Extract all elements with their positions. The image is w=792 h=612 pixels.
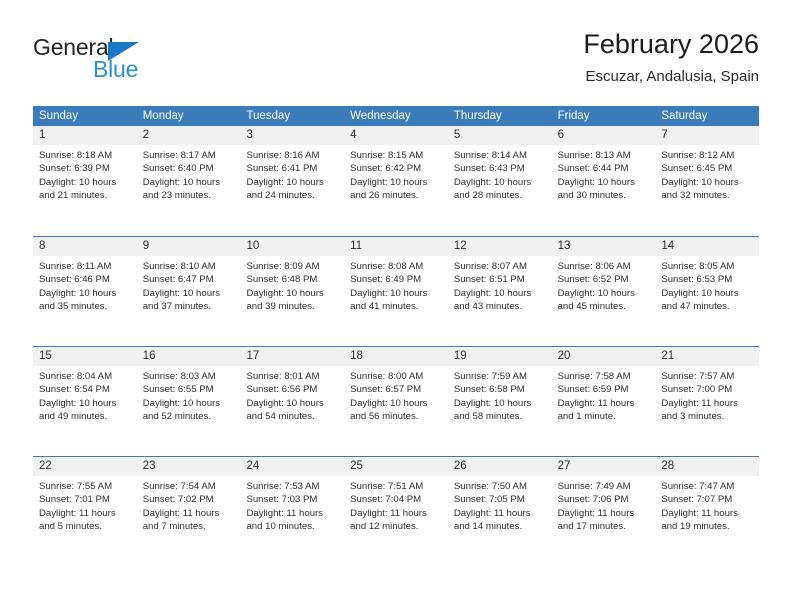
daylight-text-line1: Daylight: 10 hours xyxy=(143,397,235,410)
daylight-text-line2: and 32 minutes. xyxy=(661,189,753,202)
daylight-text-line1: Daylight: 10 hours xyxy=(558,176,650,189)
day-cell[interactable]: 1 Sunrise: 8:18 AM Sunset: 6:39 PM Dayli… xyxy=(33,126,137,236)
daylight-text-line1: Daylight: 10 hours xyxy=(350,397,442,410)
day-cell[interactable]: 9 Sunrise: 8:10 AM Sunset: 6:47 PM Dayli… xyxy=(137,237,241,346)
day-number: 17 xyxy=(240,347,344,366)
day-number: 14 xyxy=(655,237,759,256)
day-info: Sunrise: 7:47 AM Sunset: 7:07 PM Dayligh… xyxy=(655,476,759,534)
day-info: Sunrise: 7:51 AM Sunset: 7:04 PM Dayligh… xyxy=(344,476,448,534)
day-number: 8 xyxy=(33,237,137,256)
weekday-header-saturday: Saturday xyxy=(655,106,759,126)
sunset-text: Sunset: 6:57 PM xyxy=(350,383,442,396)
day-cell[interactable]: 3 Sunrise: 8:16 AM Sunset: 6:41 PM Dayli… xyxy=(240,126,344,236)
daylight-text-line1: Daylight: 11 hours xyxy=(661,397,753,410)
sunset-text: Sunset: 6:55 PM xyxy=(143,383,235,396)
daylight-text-line1: Daylight: 10 hours xyxy=(39,176,131,189)
day-info: Sunrise: 8:07 AM Sunset: 6:51 PM Dayligh… xyxy=(448,256,552,314)
brand-name-blue: Blue xyxy=(93,56,138,82)
sunrise-text: Sunrise: 8:10 AM xyxy=(143,260,235,273)
sunset-text: Sunset: 6:46 PM xyxy=(39,273,131,286)
sunset-text: Sunset: 7:04 PM xyxy=(350,493,442,506)
day-number: 23 xyxy=(137,457,241,476)
daylight-text-line2: and 35 minutes. xyxy=(39,300,131,313)
sunrise-text: Sunrise: 8:11 AM xyxy=(39,260,131,273)
daylight-text-line2: and 52 minutes. xyxy=(143,410,235,423)
day-cell[interactable]: 10 Sunrise: 8:09 AM Sunset: 6:48 PM Dayl… xyxy=(240,237,344,346)
day-info: Sunrise: 8:09 AM Sunset: 6:48 PM Dayligh… xyxy=(240,256,344,314)
daylight-text-line1: Daylight: 11 hours xyxy=(39,507,131,520)
day-number: 5 xyxy=(448,126,552,145)
day-cell[interactable]: 13 Sunrise: 8:06 AM Sunset: 6:52 PM Dayl… xyxy=(552,237,656,346)
daylight-text-line2: and 24 minutes. xyxy=(246,189,338,202)
sunrise-text: Sunrise: 8:00 AM xyxy=(350,370,442,383)
day-info: Sunrise: 7:54 AM Sunset: 7:02 PM Dayligh… xyxy=(137,476,241,534)
sunset-text: Sunset: 6:42 PM xyxy=(350,162,442,175)
daylight-text-line1: Daylight: 10 hours xyxy=(246,397,338,410)
day-info: Sunrise: 8:08 AM Sunset: 6:49 PM Dayligh… xyxy=(344,256,448,314)
sunrise-text: Sunrise: 8:01 AM xyxy=(246,370,338,383)
daylight-text-line2: and 54 minutes. xyxy=(246,410,338,423)
day-cell[interactable]: 11 Sunrise: 8:08 AM Sunset: 6:49 PM Dayl… xyxy=(344,237,448,346)
daylight-text-line1: Daylight: 10 hours xyxy=(454,287,546,300)
sunset-text: Sunset: 6:53 PM xyxy=(661,273,753,286)
day-cell[interactable]: 22 Sunrise: 7:55 AM Sunset: 7:01 PM Dayl… xyxy=(33,457,137,566)
day-cell[interactable]: 7 Sunrise: 8:12 AM Sunset: 6:45 PM Dayli… xyxy=(655,126,759,236)
day-number: 25 xyxy=(344,457,448,476)
daylight-text-line2: and 12 minutes. xyxy=(350,520,442,533)
day-number: 16 xyxy=(137,347,241,366)
daylight-text-line1: Daylight: 11 hours xyxy=(246,507,338,520)
weekday-header-row: Sunday Monday Tuesday Wednesday Thursday… xyxy=(33,106,759,126)
day-cell[interactable]: 24 Sunrise: 7:53 AM Sunset: 7:03 PM Dayl… xyxy=(240,457,344,566)
sunrise-text: Sunrise: 8:17 AM xyxy=(143,149,235,162)
daylight-text-line2: and 7 minutes. xyxy=(143,520,235,533)
sunrise-text: Sunrise: 8:13 AM xyxy=(558,149,650,162)
sunset-text: Sunset: 6:54 PM xyxy=(39,383,131,396)
day-info: Sunrise: 8:03 AM Sunset: 6:55 PM Dayligh… xyxy=(137,366,241,424)
daylight-text-line1: Daylight: 10 hours xyxy=(350,176,442,189)
day-cell[interactable]: 23 Sunrise: 7:54 AM Sunset: 7:02 PM Dayl… xyxy=(137,457,241,566)
week-row: 22 Sunrise: 7:55 AM Sunset: 7:01 PM Dayl… xyxy=(33,456,759,566)
daylight-text-line1: Daylight: 11 hours xyxy=(454,507,546,520)
daylight-text-line2: and 49 minutes. xyxy=(39,410,131,423)
daylight-text-line1: Daylight: 10 hours xyxy=(39,397,131,410)
day-cell[interactable]: 12 Sunrise: 8:07 AM Sunset: 6:51 PM Dayl… xyxy=(448,237,552,346)
day-info: Sunrise: 8:13 AM Sunset: 6:44 PM Dayligh… xyxy=(552,145,656,203)
day-cell[interactable]: 20 Sunrise: 7:58 AM Sunset: 6:59 PM Dayl… xyxy=(552,347,656,456)
day-info: Sunrise: 8:10 AM Sunset: 6:47 PM Dayligh… xyxy=(137,256,241,314)
day-cell[interactable]: 18 Sunrise: 8:00 AM Sunset: 6:57 PM Dayl… xyxy=(344,347,448,456)
day-cell[interactable]: 16 Sunrise: 8:03 AM Sunset: 6:55 PM Dayl… xyxy=(137,347,241,456)
day-cell[interactable]: 8 Sunrise: 8:11 AM Sunset: 6:46 PM Dayli… xyxy=(33,237,137,346)
calendar-grid: Sunday Monday Tuesday Wednesday Thursday… xyxy=(33,106,759,566)
daylight-text-line2: and 3 minutes. xyxy=(661,410,753,423)
day-info: Sunrise: 8:12 AM Sunset: 6:45 PM Dayligh… xyxy=(655,145,759,203)
day-number: 22 xyxy=(33,457,137,476)
weekday-header-friday: Friday xyxy=(552,106,656,126)
day-cell[interactable]: 28 Sunrise: 7:47 AM Sunset: 7:07 PM Dayl… xyxy=(655,457,759,566)
sunset-text: Sunset: 6:39 PM xyxy=(39,162,131,175)
day-info: Sunrise: 7:50 AM Sunset: 7:05 PM Dayligh… xyxy=(448,476,552,534)
sunrise-text: Sunrise: 7:58 AM xyxy=(558,370,650,383)
sunset-text: Sunset: 6:45 PM xyxy=(661,162,753,175)
day-cell[interactable]: 5 Sunrise: 8:14 AM Sunset: 6:43 PM Dayli… xyxy=(448,126,552,236)
day-number: 28 xyxy=(655,457,759,476)
daylight-text-line2: and 26 minutes. xyxy=(350,189,442,202)
weekday-header-thursday: Thursday xyxy=(448,106,552,126)
sunset-text: Sunset: 6:48 PM xyxy=(246,273,338,286)
daylight-text-line1: Daylight: 10 hours xyxy=(558,287,650,300)
weekday-header-wednesday: Wednesday xyxy=(344,106,448,126)
sunrise-text: Sunrise: 8:08 AM xyxy=(350,260,442,273)
daylight-text-line2: and 43 minutes. xyxy=(454,300,546,313)
sunset-text: Sunset: 7:00 PM xyxy=(661,383,753,396)
daylight-text-line2: and 37 minutes. xyxy=(143,300,235,313)
day-cell[interactable]: 27 Sunrise: 7:49 AM Sunset: 7:06 PM Dayl… xyxy=(552,457,656,566)
sunrise-text: Sunrise: 7:50 AM xyxy=(454,480,546,493)
day-info: Sunrise: 8:16 AM Sunset: 6:41 PM Dayligh… xyxy=(240,145,344,203)
sunset-text: Sunset: 6:43 PM xyxy=(454,162,546,175)
day-number: 27 xyxy=(552,457,656,476)
sunset-text: Sunset: 6:59 PM xyxy=(558,383,650,396)
day-number: 7 xyxy=(655,126,759,145)
day-info: Sunrise: 7:49 AM Sunset: 7:06 PM Dayligh… xyxy=(552,476,656,534)
daylight-text-line2: and 5 minutes. xyxy=(39,520,131,533)
day-info: Sunrise: 8:14 AM Sunset: 6:43 PM Dayligh… xyxy=(448,145,552,203)
sunset-text: Sunset: 6:40 PM xyxy=(143,162,235,175)
daylight-text-line2: and 14 minutes. xyxy=(454,520,546,533)
day-cell[interactable]: 4 Sunrise: 8:15 AM Sunset: 6:42 PM Dayli… xyxy=(344,126,448,236)
title-block: February 2026 Escuzar, Andalusia, Spain xyxy=(239,28,759,86)
day-info: Sunrise: 8:17 AM Sunset: 6:40 PM Dayligh… xyxy=(137,145,241,203)
sunrise-text: Sunrise: 8:04 AM xyxy=(39,370,131,383)
calendar-page: General Blue February 2026 Escuzar, Anda… xyxy=(0,0,792,612)
day-number: 13 xyxy=(552,237,656,256)
sunset-text: Sunset: 6:51 PM xyxy=(454,273,546,286)
day-number: 1 xyxy=(33,126,137,145)
sunrise-text: Sunrise: 7:49 AM xyxy=(558,480,650,493)
day-cell[interactable]: 21 Sunrise: 7:57 AM Sunset: 7:00 PM Dayl… xyxy=(655,347,759,456)
sunset-text: Sunset: 7:05 PM xyxy=(454,493,546,506)
day-number: 20 xyxy=(552,347,656,366)
sunrise-text: Sunrise: 8:16 AM xyxy=(246,149,338,162)
sunset-text: Sunset: 6:52 PM xyxy=(558,273,650,286)
day-cell[interactable]: 19 Sunrise: 7:59 AM Sunset: 6:58 PM Dayl… xyxy=(448,347,552,456)
day-number: 11 xyxy=(344,237,448,256)
daylight-text-line2: and 58 minutes. xyxy=(454,410,546,423)
daylight-text-line2: and 56 minutes. xyxy=(350,410,442,423)
daylight-text-line2: and 30 minutes. xyxy=(558,189,650,202)
day-cell[interactable]: 26 Sunrise: 7:50 AM Sunset: 7:05 PM Dayl… xyxy=(448,457,552,566)
sunset-text: Sunset: 6:47 PM xyxy=(143,273,235,286)
day-number: 24 xyxy=(240,457,344,476)
day-info: Sunrise: 8:18 AM Sunset: 6:39 PM Dayligh… xyxy=(33,145,137,203)
day-info: Sunrise: 8:05 AM Sunset: 6:53 PM Dayligh… xyxy=(655,256,759,314)
sunset-text: Sunset: 6:41 PM xyxy=(246,162,338,175)
sunrise-text: Sunrise: 8:03 AM xyxy=(143,370,235,383)
daylight-text-line1: Daylight: 10 hours xyxy=(246,176,338,189)
sunset-text: Sunset: 6:58 PM xyxy=(454,383,546,396)
daylight-text-line2: and 23 minutes. xyxy=(143,189,235,202)
sunrise-text: Sunrise: 8:06 AM xyxy=(558,260,650,273)
sunset-text: Sunset: 7:02 PM xyxy=(143,493,235,506)
day-info: Sunrise: 8:15 AM Sunset: 6:42 PM Dayligh… xyxy=(344,145,448,203)
day-number: 18 xyxy=(344,347,448,366)
daylight-text-line1: Daylight: 11 hours xyxy=(143,507,235,520)
weekday-header-monday: Monday xyxy=(137,106,241,126)
sunset-text: Sunset: 6:44 PM xyxy=(558,162,650,175)
day-cell[interactable]: 14 Sunrise: 8:05 AM Sunset: 6:53 PM Dayl… xyxy=(655,237,759,346)
daylight-text-line2: and 21 minutes. xyxy=(39,189,131,202)
sunset-text: Sunset: 6:56 PM xyxy=(246,383,338,396)
daylight-text-line2: and 47 minutes. xyxy=(661,300,753,313)
sunrise-text: Sunrise: 8:18 AM xyxy=(39,149,131,162)
daylight-text-line1: Daylight: 10 hours xyxy=(143,287,235,300)
daylight-text-line2: and 39 minutes. xyxy=(246,300,338,313)
weekday-header-tuesday: Tuesday xyxy=(240,106,344,126)
day-number: 21 xyxy=(655,347,759,366)
day-cell[interactable]: 15 Sunrise: 8:04 AM Sunset: 6:54 PM Dayl… xyxy=(33,347,137,456)
daylight-text-line2: and 10 minutes. xyxy=(246,520,338,533)
sunrise-text: Sunrise: 8:05 AM xyxy=(661,260,753,273)
sunrise-text: Sunrise: 7:51 AM xyxy=(350,480,442,493)
day-cell[interactable]: 6 Sunrise: 8:13 AM Sunset: 6:44 PM Dayli… xyxy=(552,126,656,236)
day-number: 3 xyxy=(240,126,344,145)
brand-logo[interactable]: General Blue xyxy=(33,34,233,90)
daylight-text-line2: and 28 minutes. xyxy=(454,189,546,202)
daylight-text-line2: and 17 minutes. xyxy=(558,520,650,533)
sunrise-text: Sunrise: 8:15 AM xyxy=(350,149,442,162)
day-number: 9 xyxy=(137,237,241,256)
week-row: 1 Sunrise: 8:18 AM Sunset: 6:39 PM Dayli… xyxy=(33,126,759,236)
day-info: Sunrise: 8:11 AM Sunset: 6:46 PM Dayligh… xyxy=(33,256,137,314)
day-info: Sunrise: 8:06 AM Sunset: 6:52 PM Dayligh… xyxy=(552,256,656,314)
sunset-text: Sunset: 7:07 PM xyxy=(661,493,753,506)
sunrise-text: Sunrise: 7:47 AM xyxy=(661,480,753,493)
day-cell[interactable]: 25 Sunrise: 7:51 AM Sunset: 7:04 PM Dayl… xyxy=(344,457,448,566)
daylight-text-line1: Daylight: 10 hours xyxy=(661,287,753,300)
sunrise-text: Sunrise: 7:55 AM xyxy=(39,480,131,493)
daylight-text-line1: Daylight: 11 hours xyxy=(661,507,753,520)
sunrise-text: Sunrise: 8:14 AM xyxy=(454,149,546,162)
day-info: Sunrise: 8:04 AM Sunset: 6:54 PM Dayligh… xyxy=(33,366,137,424)
sunset-text: Sunset: 6:49 PM xyxy=(350,273,442,286)
week-row: 15 Sunrise: 8:04 AM Sunset: 6:54 PM Dayl… xyxy=(33,346,759,456)
sunset-text: Sunset: 7:01 PM xyxy=(39,493,131,506)
daylight-text-line1: Daylight: 10 hours xyxy=(661,176,753,189)
sunrise-text: Sunrise: 7:57 AM xyxy=(661,370,753,383)
day-cell[interactable]: 17 Sunrise: 8:01 AM Sunset: 6:56 PM Dayl… xyxy=(240,347,344,456)
daylight-text-line1: Daylight: 11 hours xyxy=(558,397,650,410)
day-number: 15 xyxy=(33,347,137,366)
day-number: 19 xyxy=(448,347,552,366)
day-info: Sunrise: 7:55 AM Sunset: 7:01 PM Dayligh… xyxy=(33,476,137,534)
page-header: General Blue February 2026 Escuzar, Anda… xyxy=(33,28,759,100)
day-number: 4 xyxy=(344,126,448,145)
day-info: Sunrise: 7:57 AM Sunset: 7:00 PM Dayligh… xyxy=(655,366,759,424)
daylight-text-line1: Daylight: 10 hours xyxy=(143,176,235,189)
day-info: Sunrise: 8:00 AM Sunset: 6:57 PM Dayligh… xyxy=(344,366,448,424)
sunrise-text: Sunrise: 7:53 AM xyxy=(246,480,338,493)
sunset-text: Sunset: 7:03 PM xyxy=(246,493,338,506)
day-info: Sunrise: 7:58 AM Sunset: 6:59 PM Dayligh… xyxy=(552,366,656,424)
page-title: February 2026 xyxy=(239,28,759,61)
daylight-text-line1: Daylight: 10 hours xyxy=(246,287,338,300)
day-number: 12 xyxy=(448,237,552,256)
daylight-text-line2: and 45 minutes. xyxy=(558,300,650,313)
page-subtitle: Escuzar, Andalusia, Spain xyxy=(239,67,759,86)
sunset-text: Sunset: 7:06 PM xyxy=(558,493,650,506)
sunrise-text: Sunrise: 8:12 AM xyxy=(661,149,753,162)
daylight-text-line1: Daylight: 11 hours xyxy=(558,507,650,520)
day-info: Sunrise: 7:59 AM Sunset: 6:58 PM Dayligh… xyxy=(448,366,552,424)
daylight-text-line1: Daylight: 10 hours xyxy=(39,287,131,300)
day-number: 26 xyxy=(448,457,552,476)
daylight-text-line1: Daylight: 11 hours xyxy=(350,507,442,520)
daylight-text-line2: and 1 minute. xyxy=(558,410,650,423)
day-info: Sunrise: 7:53 AM Sunset: 7:03 PM Dayligh… xyxy=(240,476,344,534)
day-cell[interactable]: 2 Sunrise: 8:17 AM Sunset: 6:40 PM Dayli… xyxy=(137,126,241,236)
week-row: 8 Sunrise: 8:11 AM Sunset: 6:46 PM Dayli… xyxy=(33,236,759,346)
daylight-text-line1: Daylight: 10 hours xyxy=(454,176,546,189)
weekday-header-sunday: Sunday xyxy=(33,106,137,126)
sunrise-text: Sunrise: 7:54 AM xyxy=(143,480,235,493)
day-info: Sunrise: 8:01 AM Sunset: 6:56 PM Dayligh… xyxy=(240,366,344,424)
daylight-text-line2: and 41 minutes. xyxy=(350,300,442,313)
daylight-text-line2: and 19 minutes. xyxy=(661,520,753,533)
sunrise-text: Sunrise: 7:59 AM xyxy=(454,370,546,383)
sunrise-text: Sunrise: 8:09 AM xyxy=(246,260,338,273)
day-number: 6 xyxy=(552,126,656,145)
daylight-text-line1: Daylight: 10 hours xyxy=(454,397,546,410)
sunrise-text: Sunrise: 8:07 AM xyxy=(454,260,546,273)
daylight-text-line1: Daylight: 10 hours xyxy=(350,287,442,300)
day-number: 2 xyxy=(137,126,241,145)
day-number: 10 xyxy=(240,237,344,256)
